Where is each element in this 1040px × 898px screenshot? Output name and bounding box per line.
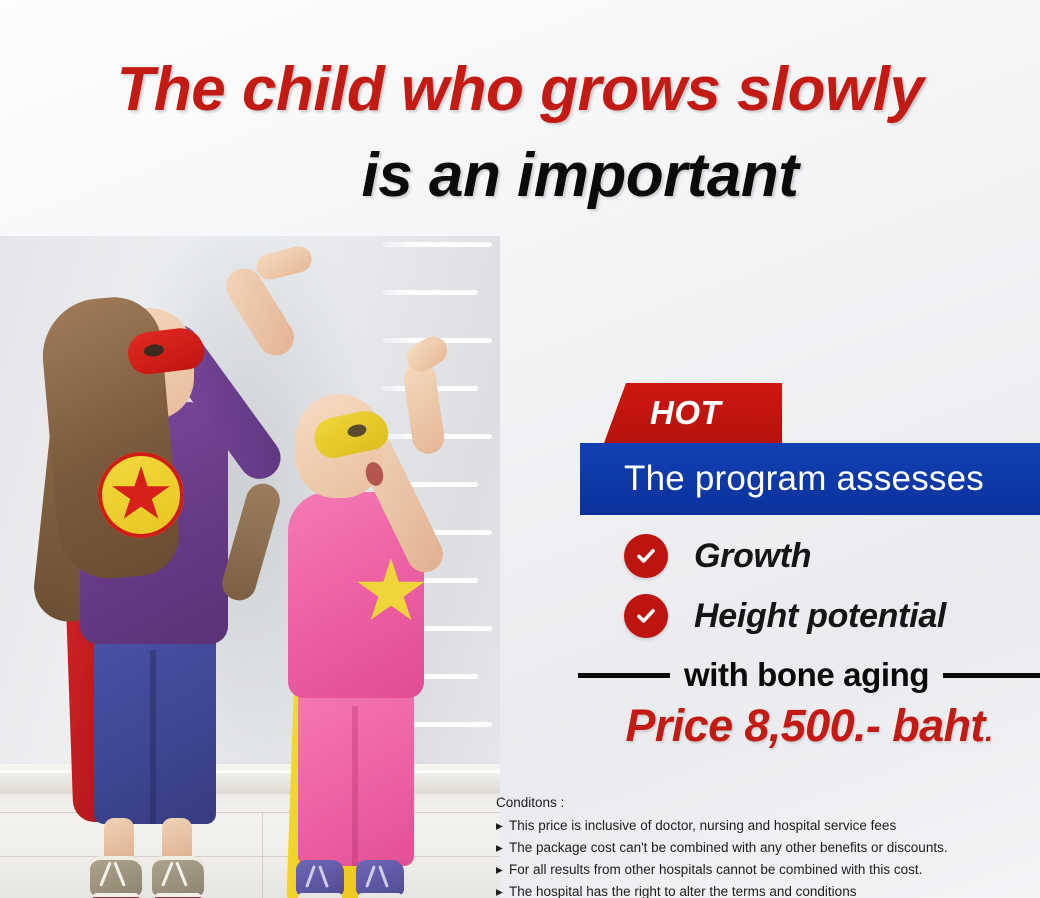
- check-circle-icon: [624, 534, 668, 578]
- bullet-icon: ▸: [496, 881, 509, 898]
- younger-girl-shoe-right: [356, 860, 404, 896]
- younger-girl-shoe-left: [296, 860, 344, 896]
- list-item: ▸This price is inclusive of doctor, nurs…: [496, 815, 1040, 837]
- hot-ribbon-label: HOT: [604, 394, 721, 432]
- check-item-label: Height potential: [694, 597, 946, 636]
- bullet-icon: ▸: [496, 837, 509, 859]
- bone-aging-row: with bone aging: [578, 656, 1040, 694]
- younger-girl-forearm: [402, 360, 446, 456]
- divider-left: [578, 673, 670, 678]
- conditions-block: Conditons : ▸This price is inclusive of …: [496, 792, 1040, 898]
- ruler-tick: [382, 242, 492, 247]
- list-item: ▸The hospital has the right to alter the…: [496, 881, 1040, 898]
- ruler-tick: [382, 290, 478, 295]
- condition-text: For all results from other hospitals can…: [509, 862, 922, 877]
- bone-aging-label: with bone aging: [670, 656, 943, 694]
- younger-girl-pink-pants: [298, 684, 414, 866]
- hot-ribbon-badge: HOT: [604, 383, 782, 443]
- photo-children-measuring-height: [0, 236, 500, 898]
- list-item: Growth: [624, 534, 1040, 578]
- check-circle-icon: [624, 594, 668, 638]
- promotional-poster: The child who grows slowly is an importa…: [0, 0, 1040, 898]
- condition-text: This price is inclusive of doctor, nursi…: [509, 818, 896, 833]
- conditions-title: Conditons :: [496, 792, 1040, 814]
- headline-line-2: is an important: [0, 144, 1040, 208]
- headline: The child who grows slowly is an importa…: [0, 58, 1040, 208]
- older-girl-shoe-right: [152, 856, 204, 896]
- headline-line-1: The child who grows slowly: [117, 55, 924, 124]
- older-girl-leggings: [94, 624, 216, 824]
- star-emblem: [98, 452, 184, 538]
- condition-text: The package cost can't be combined with …: [509, 840, 948, 855]
- list-item: ▸The package cost can't be combined with…: [496, 837, 1040, 859]
- price-suffix: .: [985, 715, 993, 748]
- check-item-label: Growth: [694, 537, 811, 576]
- condition-text: The hospital has the right to alter the …: [509, 884, 856, 898]
- divider-right: [943, 673, 1040, 678]
- younger-girl: [240, 332, 455, 898]
- conditions-list: ▸This price is inclusive of doctor, nurs…: [496, 815, 1040, 898]
- price-label: Price 8,500.- baht.: [578, 700, 1040, 752]
- list-item: ▸For all results from other hospitals ca…: [496, 859, 1040, 881]
- star-icon: [111, 466, 171, 524]
- bullet-icon: ▸: [496, 815, 509, 837]
- program-title-bar: The program assesses: [580, 443, 1040, 515]
- older-girl-shoe-left: [90, 856, 142, 896]
- assessment-checklist: Growth Height potential: [624, 534, 1040, 654]
- price-value: Price 8,500.- baht: [625, 700, 984, 751]
- list-item: Height potential: [624, 594, 1040, 638]
- program-title-label: The program assesses: [580, 459, 984, 499]
- bullet-icon: ▸: [496, 859, 509, 881]
